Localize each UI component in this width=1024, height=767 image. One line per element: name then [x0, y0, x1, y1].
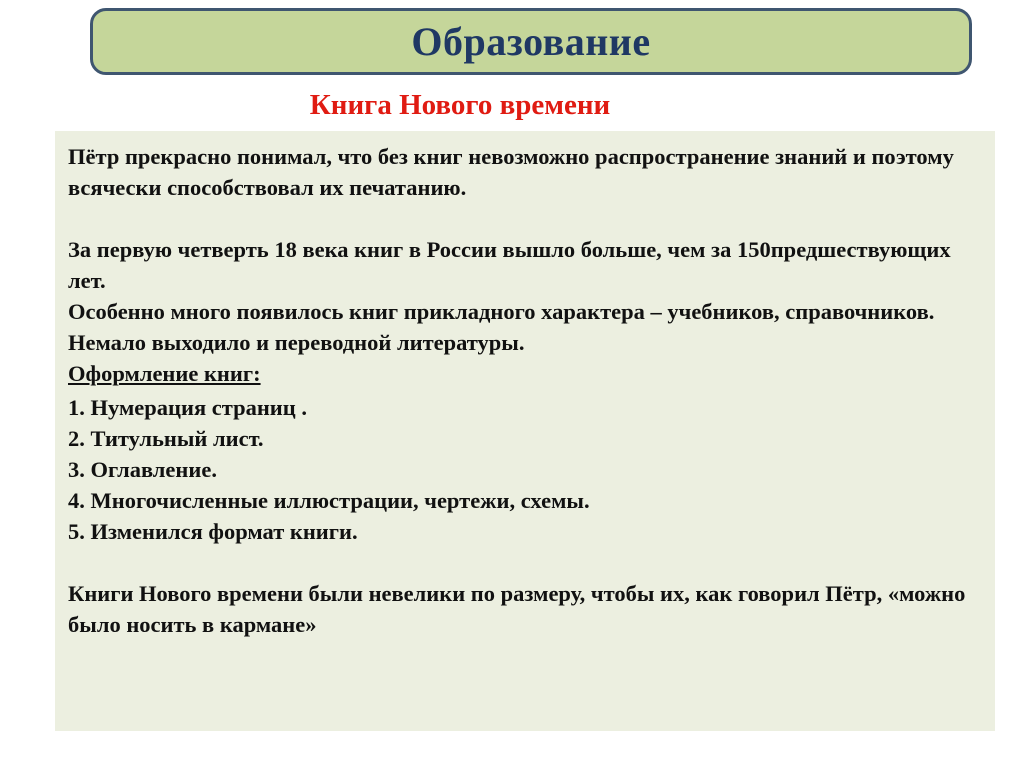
- content-panel: Пётр прекрасно понимал, что без книг нев…: [55, 131, 995, 731]
- list-item: 4. Многочисленные иллюстрации, чертежи, …: [68, 485, 981, 516]
- body-paragraph-2: За первую четверть 18 века книг в России…: [68, 234, 973, 296]
- list-heading-row: Оформление книг:: [68, 358, 981, 392]
- list-item: 2. Титульный лист.: [68, 423, 981, 454]
- body-paragraph-3: Особенно много появилось книг прикладног…: [68, 296, 973, 358]
- paragraph-spacer: [68, 203, 981, 234]
- list-item: 3. Оглавление.: [68, 454, 981, 485]
- body-paragraph-1: Пётр прекрасно понимал, что без книг нев…: [68, 141, 973, 203]
- page-title: Образование: [411, 22, 650, 62]
- list-item: 1. Нумерация страниц .: [68, 392, 981, 423]
- body-paragraph-4: Книги Нового времени были невелики по ра…: [68, 578, 973, 640]
- slide-title-banner: Образование: [90, 8, 972, 75]
- book-design-heading: Оформление книг:: [68, 358, 261, 389]
- list-item: 5. Изменился формат книги.: [68, 516, 981, 547]
- paragraph-spacer: [68, 547, 981, 578]
- slide-subtitle: Книга Нового времени: [0, 90, 920, 122]
